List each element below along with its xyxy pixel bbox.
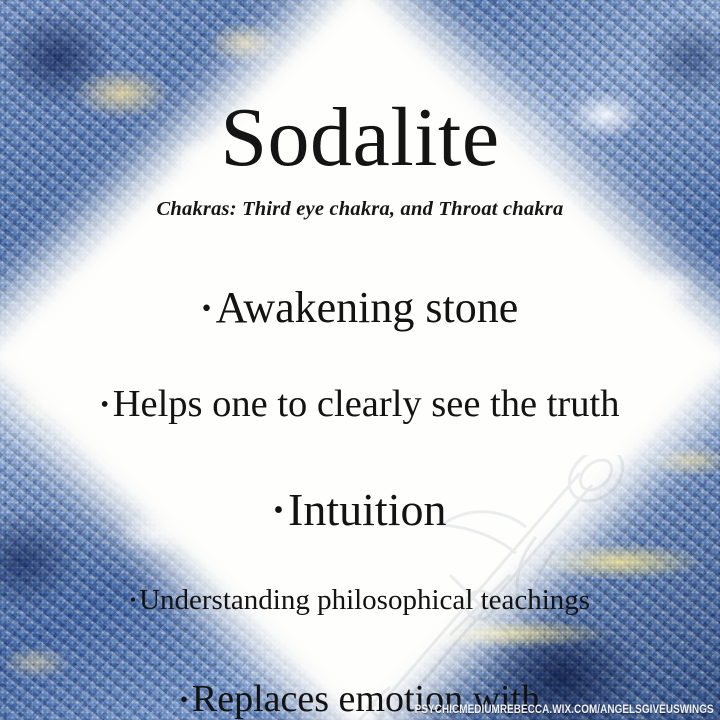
site-url-watermark: PSYCHICMEDIUMREBECCA.WIX.COM/ANGELSGIVEU… [415,704,714,716]
list-item-label: Intuition [288,484,446,535]
sodalite-info-card: Sodalite Chakras: Third eye chakra, and … [0,0,720,720]
chakras-subtitle: Chakras: Third eye chakra, and Throat ch… [0,198,720,221]
list-item-label: Helps one to clearly see the truth [113,383,620,425]
list-item-label: Awakening stone [216,283,519,332]
list-item-label: Understanding philosophical teachings [139,584,590,616]
list-item: •Helps one to clearly see the truth [0,343,720,425]
card-content: Sodalite Chakras: Third eye chakra, and … [0,0,720,720]
page-title: Sodalite [0,96,720,180]
properties-list: •Awakening stone •Helps one to clearly s… [0,236,720,720]
list-item: •Understanding philosophical teachings [0,554,720,615]
list-item: •Intuition [0,437,720,535]
list-item: •Awakening stone [0,238,720,331]
